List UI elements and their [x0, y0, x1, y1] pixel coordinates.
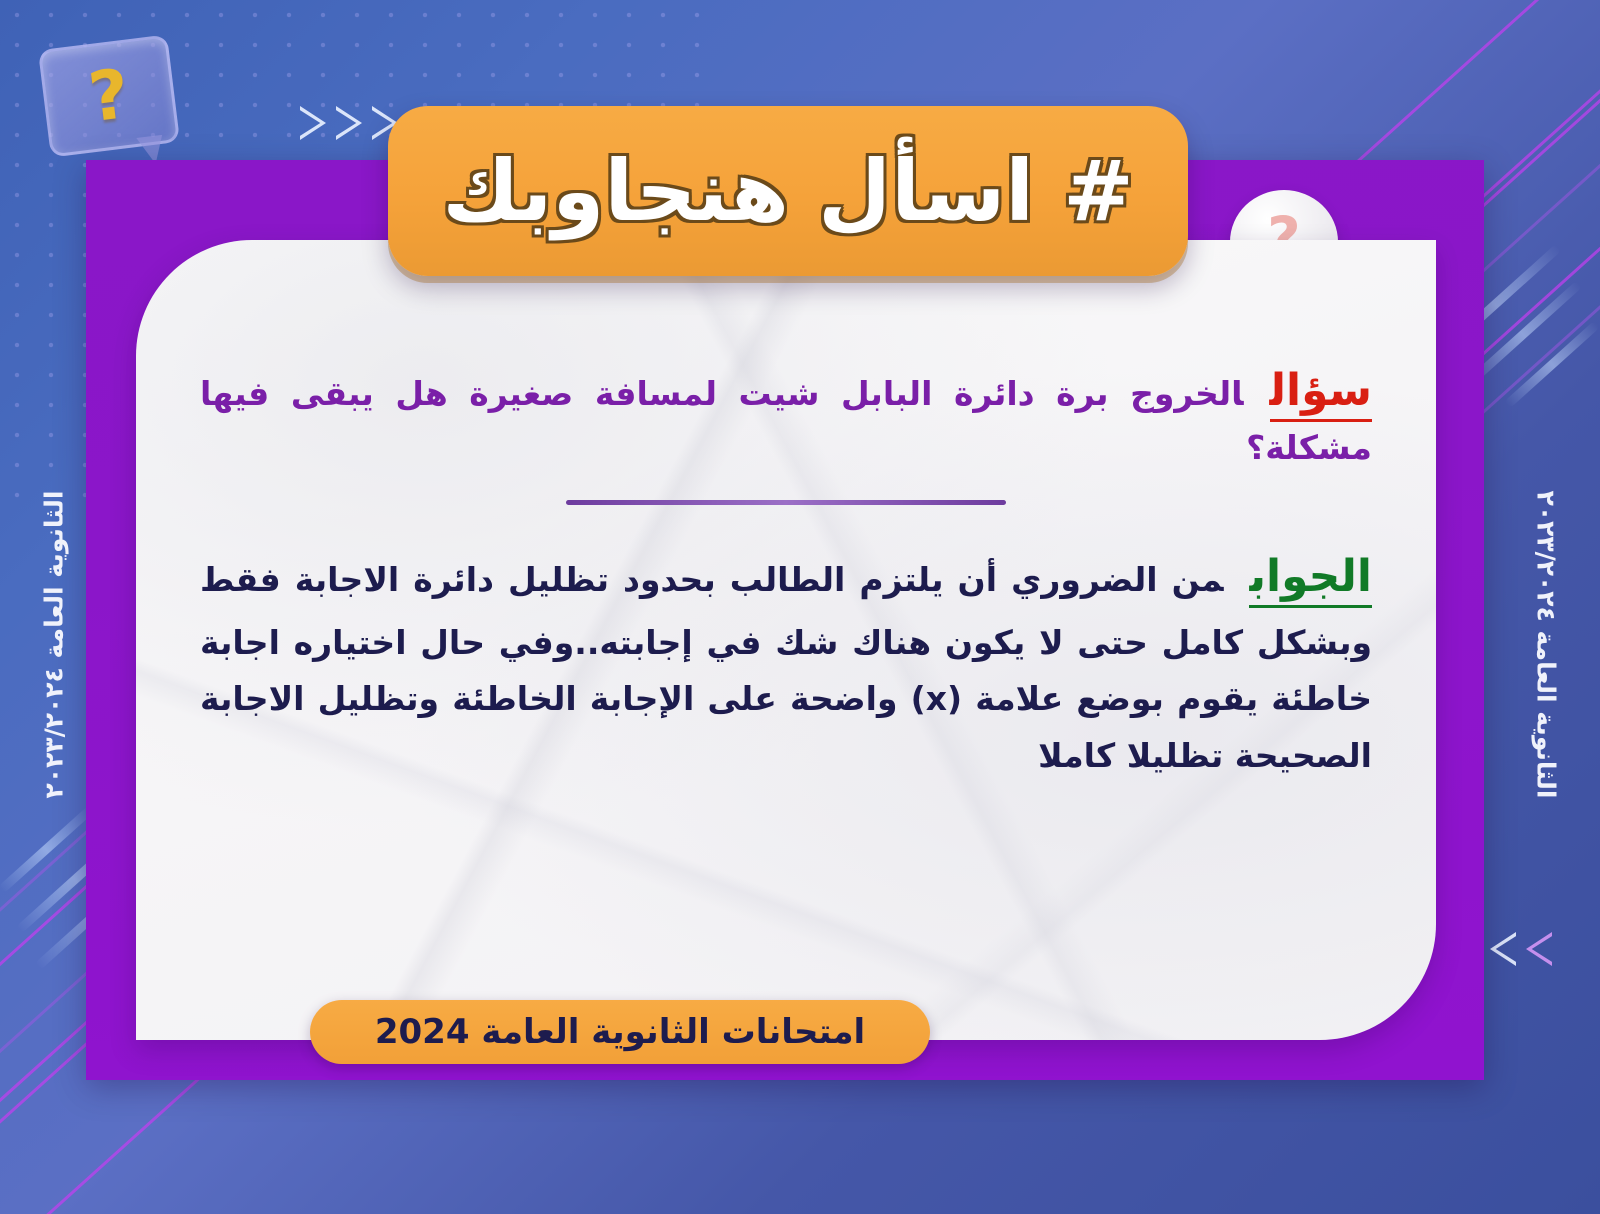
answer-label: الجواب: [1249, 551, 1372, 608]
section-divider: [566, 500, 1006, 505]
footer-badge-label: امتحانات الثانوية العامة 2024: [375, 1012, 865, 1052]
triangle-left-icon: [1526, 932, 1552, 966]
question-mark-glyph: ?: [41, 38, 177, 154]
triangle-arrows-right-icon: [300, 106, 398, 140]
content-card-inner: سؤالالخروج برة دائرة البابل شيت لمسافة ص…: [136, 240, 1436, 831]
header-badge-label: # اسأل هنجاوبك: [442, 142, 1133, 240]
side-text-left: الثانوية العامة ٢٠٢٣/٢٠٢٤: [40, 395, 69, 895]
question-block: سؤالالخروج برة دائرة البابل شيت لمسافة ص…: [200, 360, 1372, 474]
content-card: سؤالالخروج برة دائرة البابل شيت لمسافة ص…: [136, 240, 1436, 1040]
question-text: الخروج برة دائرة البابل شيت لمسافة صغيرة…: [200, 374, 1372, 467]
answer-line: الجوابمن الضروري أن يلتزم الطالب بحدود ت…: [200, 539, 1372, 785]
question-speech-bubble-icon: ?: [38, 34, 180, 157]
triangle-right-icon: [336, 106, 362, 140]
header-badge: # اسأل هنجاوبك: [388, 106, 1188, 276]
triangle-left-icon: [1490, 932, 1516, 966]
poster-canvas: ? ? سؤالالخروج برة دائرة البابل شيت لمسا…: [0, 0, 1600, 1214]
answer-block: الجوابمن الضروري أن يلتزم الطالب بحدود ت…: [200, 539, 1372, 785]
side-text-right: الثانوية العامة ٢٠٢٣/٢٠٢٤: [1532, 395, 1561, 895]
question-label: سؤال: [1270, 365, 1372, 422]
footer-badge: امتحانات الثانوية العامة 2024: [310, 1000, 930, 1064]
answer-text: من الضروري أن يلتزم الطالب بحدود تظليل د…: [200, 560, 1372, 775]
triangle-right-icon: [300, 106, 326, 140]
question-line: سؤالالخروج برة دائرة البابل شيت لمسافة ص…: [200, 360, 1372, 474]
